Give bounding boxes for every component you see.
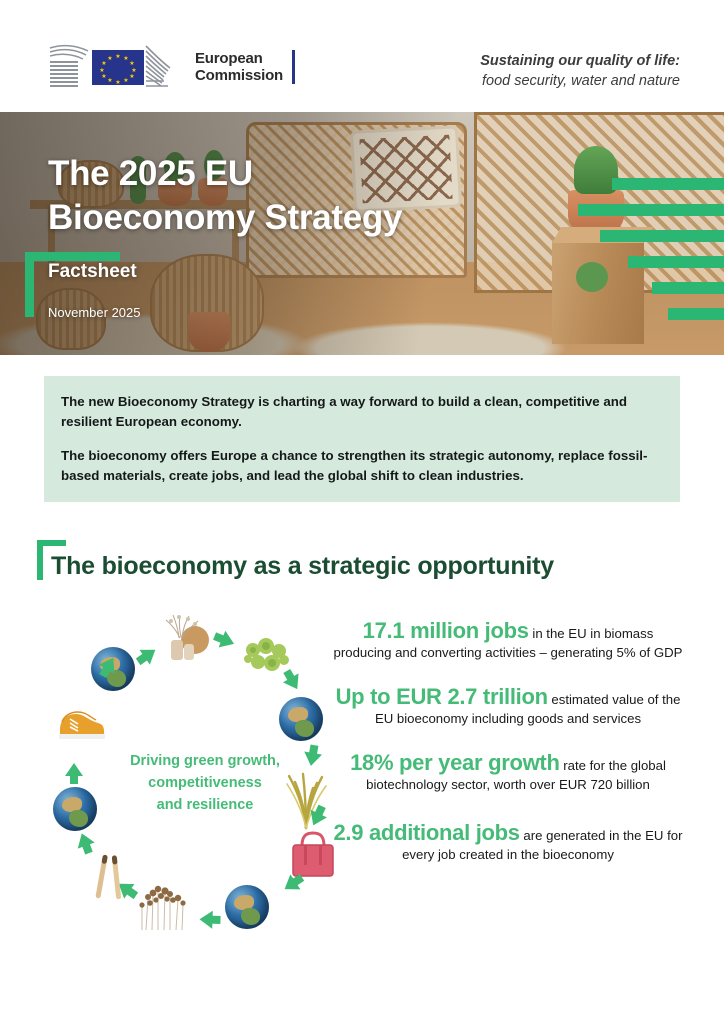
hero-text-block: The 2025 EU Bioeconomy Strategy Factshee… — [48, 152, 608, 320]
statistic-value: 18% per year growth — [350, 750, 560, 775]
hero-title-line1: The 2025 EU — [48, 152, 608, 196]
cycle-center-text: Driving green growth, competitiveness an… — [98, 750, 312, 816]
section-heading: The bioeconomy as a strategic opportunit… — [37, 540, 677, 586]
statistic-value: 2.9 additional jobs — [334, 820, 520, 845]
hero-subtitle: Factsheet — [48, 261, 608, 283]
hero-title-line2: Bioeconomy Strategy — [48, 196, 608, 240]
cycle-arrow-6 — [280, 874, 301, 896]
cycle-arrow-1 — [140, 642, 161, 664]
page-header: ★ ★ ★ ★ ★ ★ ★ ★ ★ ★ ★ ★ — [0, 0, 724, 112]
globe-icon — [225, 885, 271, 931]
cycle-center-line-3: and resilience — [98, 794, 312, 816]
statistic-item: Up to EUR 2.7 trillion estimated value o… — [332, 688, 684, 728]
key-statistics-list: 17.1 million jobs in the EU in biomass p… — [332, 622, 684, 885]
ec-wordmark-line2: Commission — [195, 67, 283, 84]
ec-wordmark-line1: European — [195, 50, 283, 67]
cotton-fibre-icon — [136, 880, 192, 932]
cycle-center-line-1: Driving green growth, — [98, 750, 312, 772]
ec-wordmark: European Commission — [195, 50, 283, 84]
sneaker-shoe-icon — [56, 704, 108, 744]
handbag-icon — [290, 830, 336, 878]
cycle-arrow-9 — [73, 830, 94, 848]
cycle-arrow-10 — [65, 763, 83, 776]
statistic-value: 17.1 million jobs — [363, 618, 529, 643]
cycle-center-line-2: competitiveness — [98, 772, 312, 794]
tagline-line-2: food security, water and nature — [480, 71, 680, 92]
bioeconomy-cycle-diagram: Driving green growth, competitiveness an… — [62, 612, 348, 952]
hero-date: November 2025 — [48, 305, 608, 320]
moss-algae-icon — [244, 638, 292, 674]
tagline-line-1: Sustaining our quality of life: — [480, 52, 680, 71]
intro-summary-box: The new Bioeconomy Strategy is charting … — [44, 376, 680, 502]
globe-icon — [53, 787, 99, 833]
european-commission-logo[interactable]: ★ ★ ★ ★ ★ ★ ★ ★ ★ ★ ★ ★ — [48, 38, 295, 96]
globe-icon — [279, 697, 325, 743]
cycle-arrow-7 — [199, 910, 213, 928]
cycle-arrow-2 — [219, 631, 238, 653]
ec-logo-bar — [292, 50, 295, 84]
intro-paragraph-1: The new Bioeconomy Strategy is charting … — [61, 392, 663, 431]
header-tagline: Sustaining our quality of life: food sec… — [480, 52, 680, 92]
vase-wood-icon — [162, 614, 212, 662]
statistic-item: 17.1 million jobs in the EU in biomass p… — [332, 622, 684, 662]
statistic-item: 2.9 additional jobs are generated in the… — [332, 824, 684, 864]
eu-flag-icon: ★ ★ ★ ★ ★ ★ ★ ★ ★ ★ ★ ★ — [92, 50, 144, 85]
statistic-value: Up to EUR 2.7 trillion — [336, 684, 548, 709]
hero-banner: The 2025 EU Bioeconomy Strategy Factshee… — [0, 112, 724, 355]
cycle-arrow-3 — [283, 673, 305, 693]
bamboo-toothbrush-icon — [90, 852, 130, 904]
ec-wing-left-icon — [48, 42, 92, 92]
statistic-item: 18% per year growth rate for the global … — [332, 754, 684, 794]
ec-wing-right-icon — [144, 42, 184, 92]
section-title: The bioeconomy as a strategic opportunit… — [51, 552, 554, 581]
hero-title: The 2025 EU Bioeconomy Strategy — [48, 152, 608, 240]
intro-paragraph-2: The bioeconomy offers Europe a chance to… — [61, 446, 663, 485]
